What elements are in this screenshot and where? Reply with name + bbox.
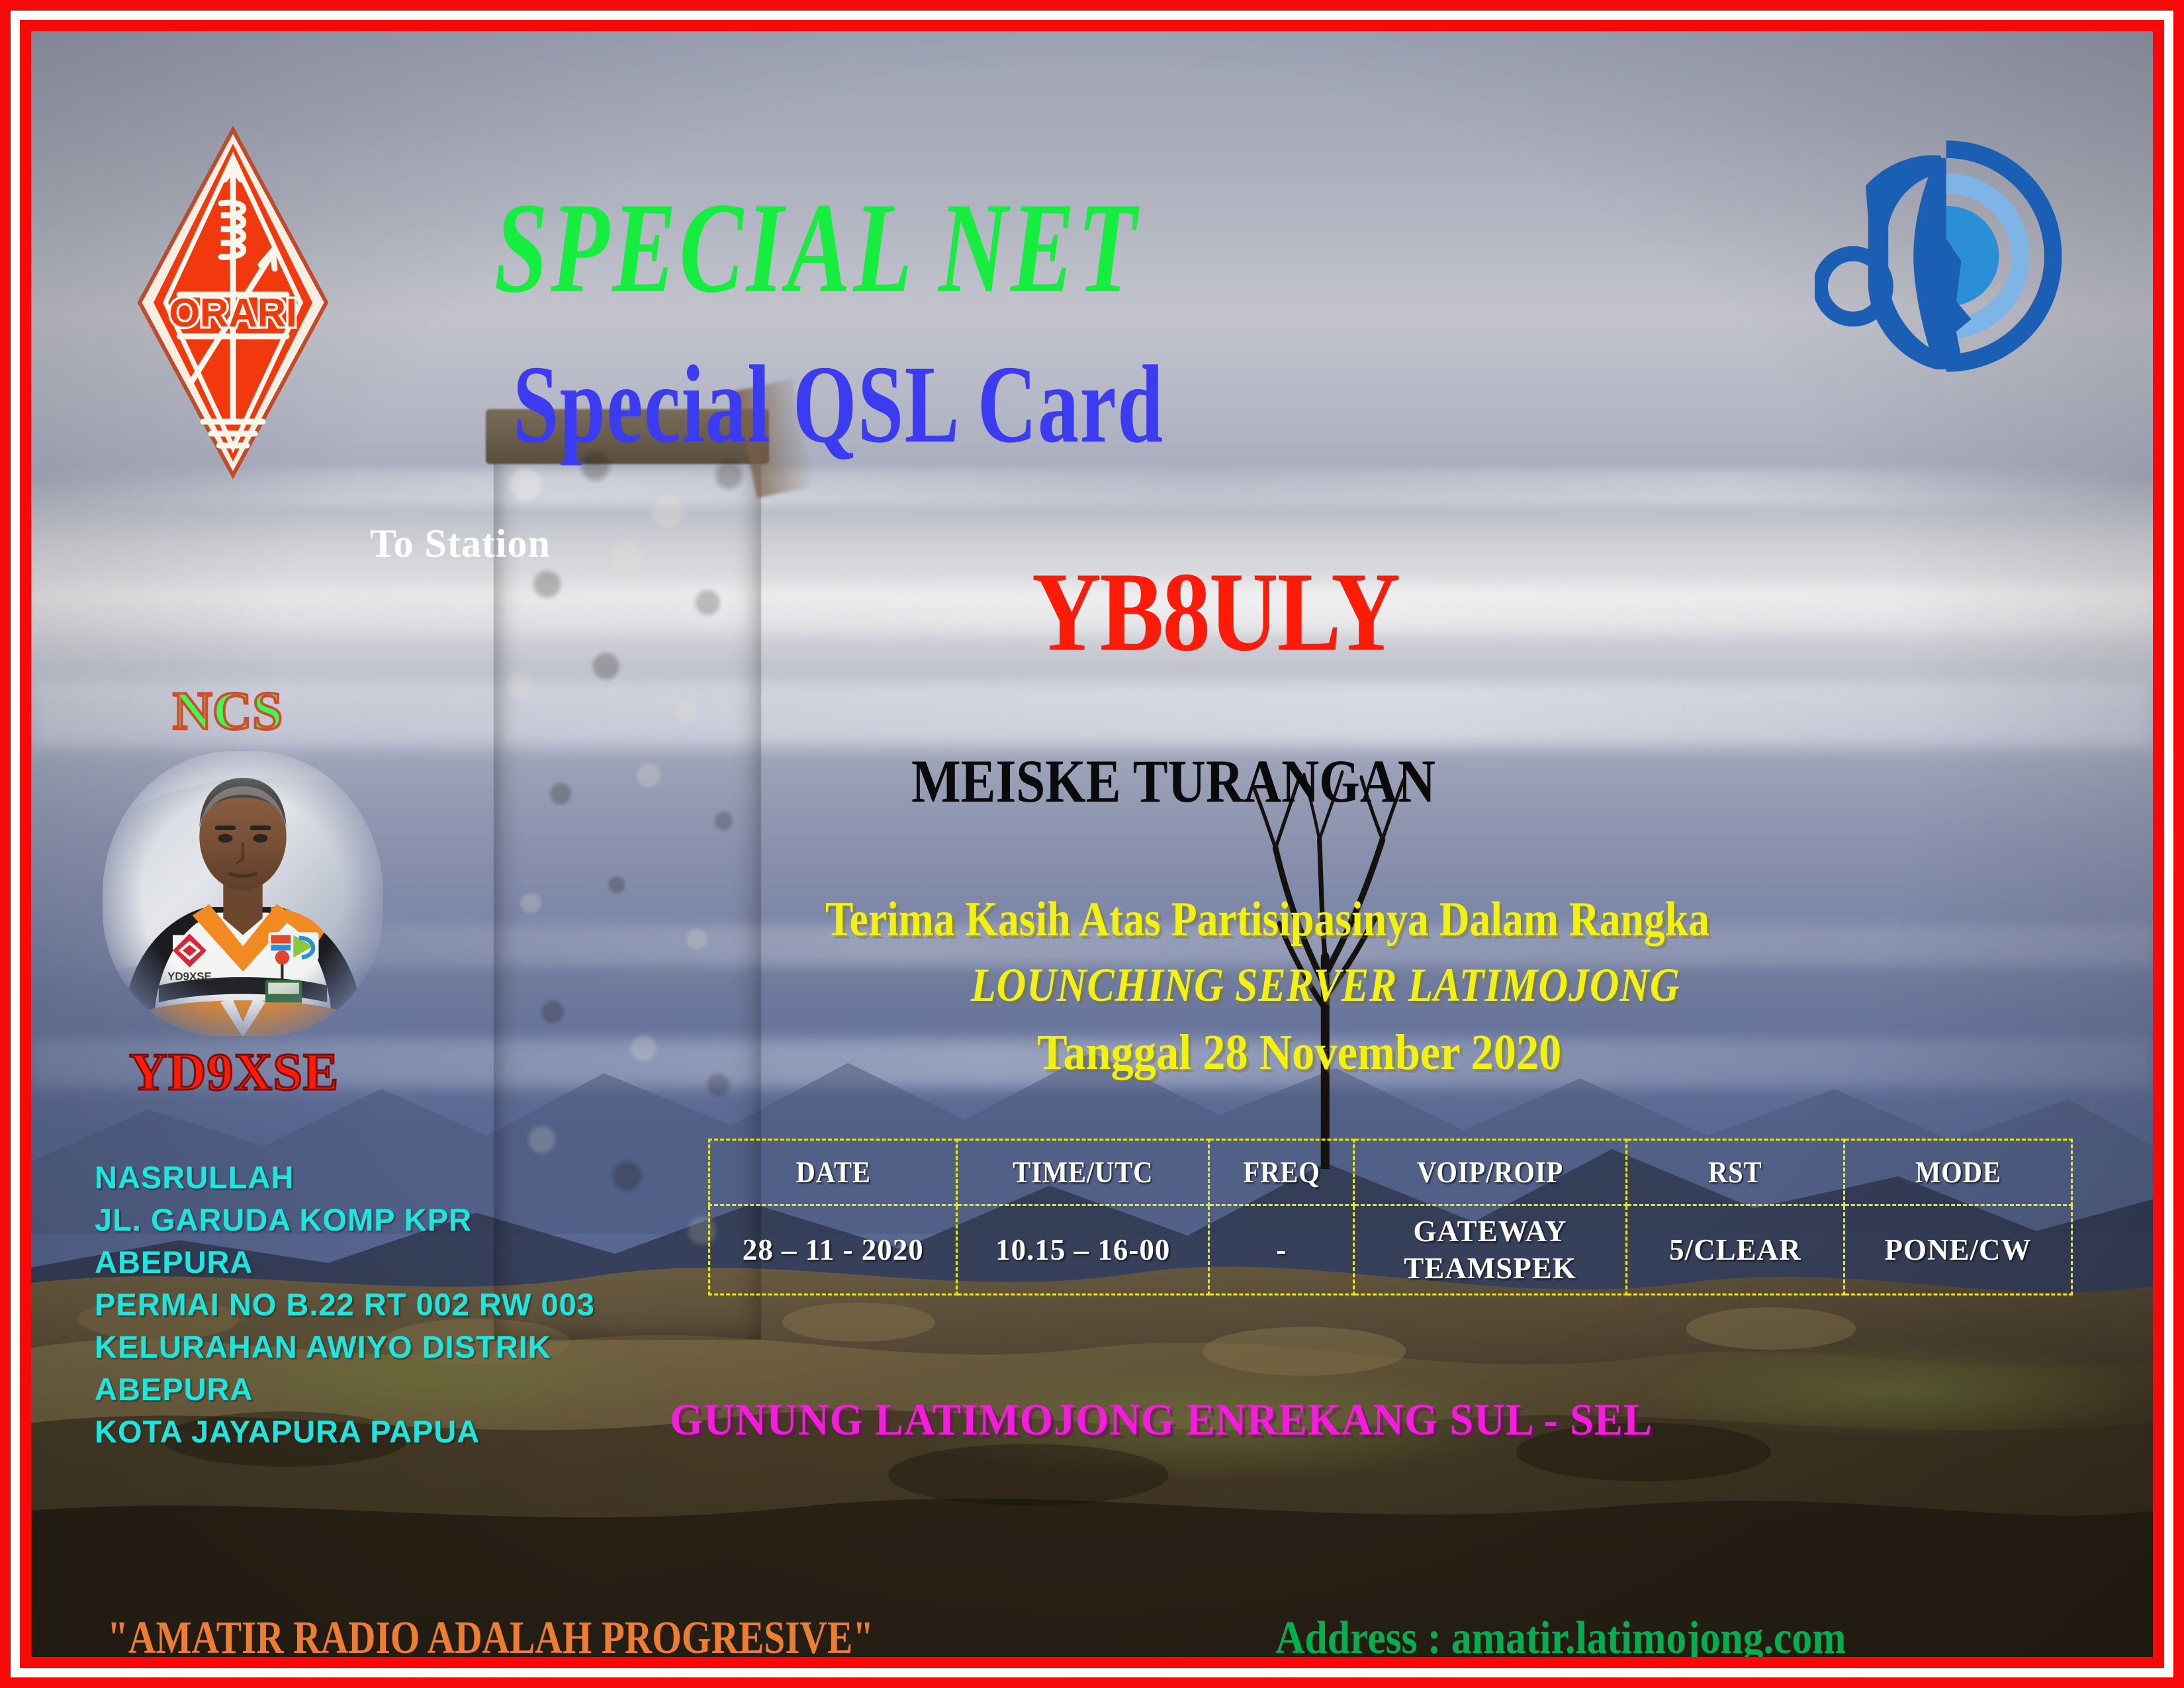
cell-mode: PONE/CW: [1844, 1205, 2072, 1295]
cell-time: 10.15 – 16-00: [957, 1205, 1209, 1295]
page-title: SPECIAL NET: [494, 173, 1139, 322]
address-line: PERMAI NO B.22 RT 002 RW 003: [95, 1284, 595, 1326]
cell-date: 28 – 11 - 2020: [709, 1205, 957, 1295]
cell-voip-line1: GATEWAY: [1355, 1213, 1625, 1250]
page-subtitle: Special QSL Card: [513, 341, 1164, 469]
ncs-label: NCS: [173, 680, 283, 742]
address-line: ABEPURA: [95, 1368, 595, 1411]
column-header-mode: MODE: [1856, 1140, 2061, 1205]
to-station-label: To Station: [370, 521, 551, 567]
address-block: NASRULLAH JL. GARUDA KOMP KPR ABEPURA PE…: [95, 1156, 595, 1453]
table-row: 28 – 11 - 2020 10.15 – 16-00 - GATEWAY T…: [709, 1205, 2072, 1295]
column-header-freq: FREQ: [1216, 1140, 1346, 1205]
headphones-face-soundwave-logo: [1815, 130, 2093, 382]
cell-rst: 5/CLEAR: [1626, 1205, 1844, 1295]
cell-voip-line2: TEAMSPEK: [1355, 1250, 1625, 1287]
address-line: JL. GARUDA KOMP KPR: [95, 1199, 595, 1241]
background-photo: ORARI SPECIAL NET Special QSL Card To St…: [31, 31, 2153, 1657]
address-line: NASRULLAH: [95, 1156, 595, 1199]
table-header-row: DATE TIME/UTC FREQ VOIP/ROIP RST MODE: [709, 1140, 2072, 1205]
column-header-rst: RST: [1637, 1140, 1834, 1205]
address-line: ABEPURA: [95, 1241, 595, 1284]
qsl-card: ORARI SPECIAL NET Special QSL Card To St…: [0, 0, 2184, 1688]
orari-logo-text: ORARI: [169, 291, 296, 335]
shirt-callsign-text: YD9XSE: [167, 970, 212, 982]
event-line: LOUNCHING SERVER LATIMOJONG: [971, 958, 1680, 1013]
qso-table: DATE TIME/UTC FREQ VOIP/ROIP RST MODE 28…: [708, 1139, 2073, 1295]
web-address-text: Address : amatir.latimojong.com: [1275, 1612, 1846, 1657]
cell-freq: -: [1209, 1205, 1354, 1295]
event-date-line: Tanggal 28 November 2020: [1037, 1024, 1561, 1082]
location-line: GUNUNG LATIMOJONG ENREKANG SUL - SEL: [670, 1393, 1653, 1446]
thanks-line: Terima Kasih Atas Partisipasinya Dalam R…: [825, 892, 1709, 948]
column-header-date: DATE: [721, 1140, 944, 1205]
cell-voip: GATEWAY TEAMSPEK: [1354, 1205, 1626, 1295]
operator-name: MEISKE TURANGAN: [911, 746, 1435, 816]
station-callsign: YB8ULY: [1032, 547, 1399, 677]
address-line: KELURAHAN AWIYO DISTRIK: [95, 1326, 595, 1368]
orari-diamond-logo: ORARI: [130, 124, 336, 481]
ncs-operator-photo: YD9XSE: [103, 751, 383, 1036]
motto-text: "AMATIR RADIO ADALAH PROGRESIVE": [107, 1612, 874, 1657]
card-white-frame: ORARI SPECIAL NET Special QSL Card To St…: [11, 11, 2173, 1677]
card-inner-red-frame: ORARI SPECIAL NET Special QSL Card To St…: [20, 20, 2164, 1668]
ncs-callsign: YD9XSE: [129, 1043, 339, 1103]
column-header-voip: VOIP/ROIP: [1367, 1140, 1612, 1205]
column-header-time: TIME/UTC: [970, 1140, 1197, 1205]
address-line: KOTA JAYAPURA PAPUA: [95, 1411, 595, 1453]
